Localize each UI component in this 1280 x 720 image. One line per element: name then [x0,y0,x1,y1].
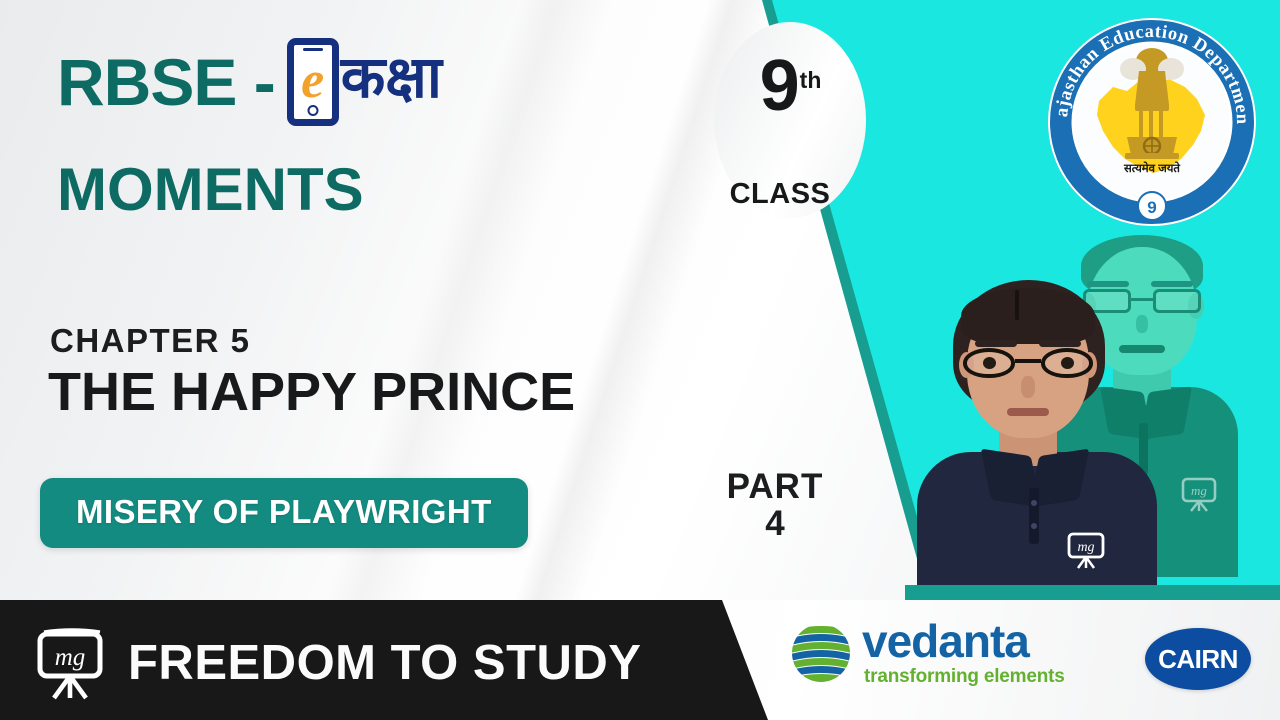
vedanta-name: vedanta [862,620,1065,664]
seal-motto: सत्यमेव जयते [1123,161,1180,175]
topic-badge-label: MISERY OF PLAYWRIGHT [76,493,492,530]
logo-kaksha-text: कक्षा [341,49,442,107]
board-title: RBSE - [57,49,275,115]
vedanta-logo: vedanta transforming elements [790,620,1065,688]
class-number: 9 [760,46,799,126]
topic-badge: MISERY OF PLAYWRIGHT [40,478,528,548]
e-kaksha-logo: e कक्षा [287,38,442,126]
svg-text:9: 9 [1147,198,1156,217]
svg-text:mg: mg [1191,483,1207,498]
photo-baseline-strip [905,585,1280,600]
presenter-front: mg [917,280,1157,585]
chapter-label: CHAPTER 5 [50,322,251,360]
vedanta-globe-icon [790,622,852,684]
tagline: FREEDOM TO STUDY [128,635,641,691]
class-number-group: 9th [714,50,866,122]
mg-shirt-logo-front: mg [1065,528,1107,570]
mg-brand-logo: mg [34,626,110,702]
logo-letter-e: e [301,55,324,107]
part-number: 4 [702,505,848,542]
part-label: PART [702,468,848,505]
thumbnail-canvas: RBSE - e कक्षा MOMENTS 9th CLASS CHAPTER… [0,0,1280,720]
board-title-row: RBSE - e कक्षा [57,38,442,126]
vedanta-tagline: transforming elements [864,666,1065,688]
rajasthan-education-department-seal: Rajasthan Education Department सत्यमेव ज… [1043,13,1261,231]
mg-logo-text: mg [55,644,86,671]
class-word: CLASS [700,178,860,211]
part-indicator: PART 4 [702,468,848,542]
cairn-logo: CAIRN [1145,628,1251,690]
class-ordinal: th [800,67,822,93]
eyeglasses-icon [961,348,1097,378]
mg-shirt-logo-back: mg [1179,473,1219,513]
page-title: THE HAPPY PRINCE [48,364,575,421]
book-title: MOMENTS [57,160,364,220]
cairn-name: CAIRN [1158,644,1238,675]
presenter-photos: mg mg [905,225,1280,600]
phone-icon: e [287,38,339,126]
svg-text:mg: mg [1077,540,1094,555]
